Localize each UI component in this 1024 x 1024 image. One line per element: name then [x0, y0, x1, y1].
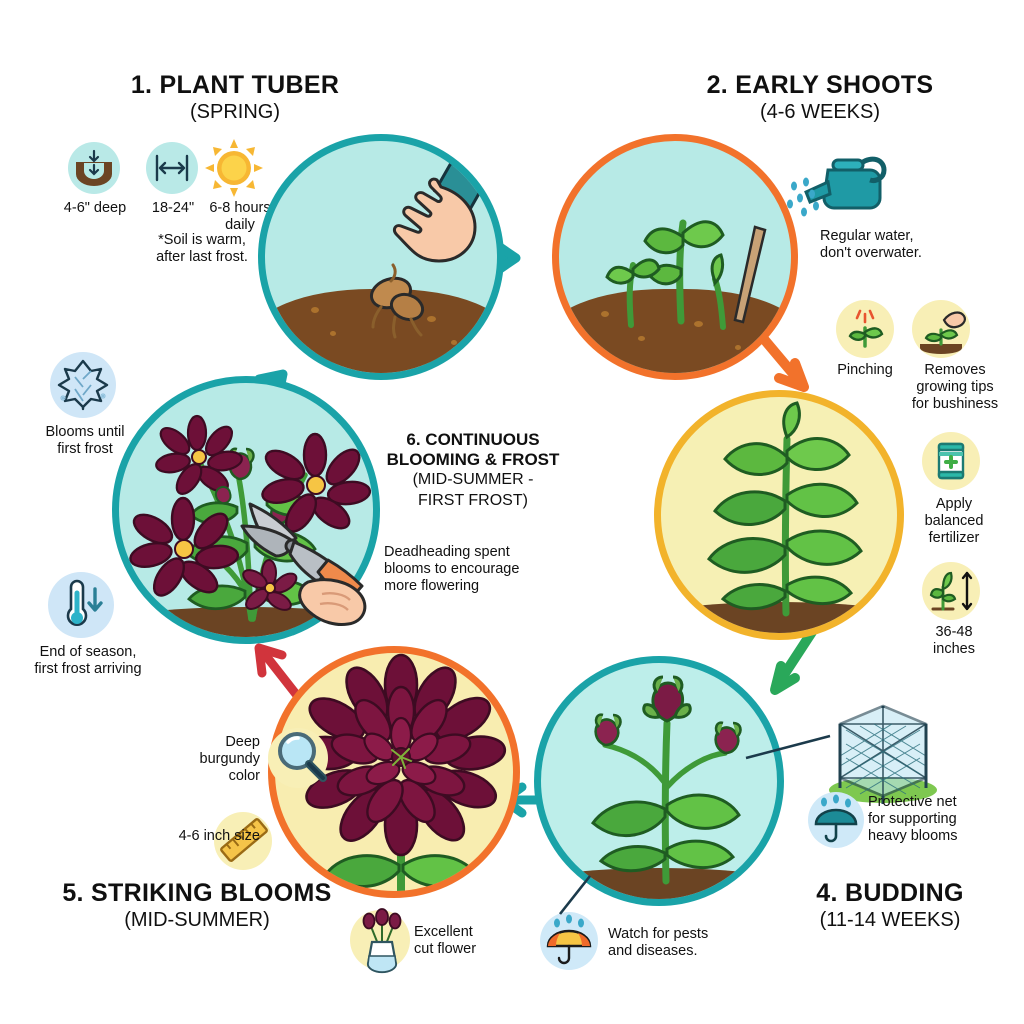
net-line3: heavy blooms	[868, 828, 957, 844]
spacing-arrow-icon	[146, 142, 198, 194]
watering-line2: don't overwater.	[820, 245, 922, 261]
hand-pinching-icon	[912, 300, 970, 358]
step-6-subtitle-line2: FIRST FROST)	[368, 492, 578, 511]
step-2-title: 2. EARLY SHOOTS	[660, 72, 980, 98]
sun-hours-line1: 6-8 hours	[209, 200, 270, 216]
removes-line1: Removes	[924, 362, 985, 378]
plant-height-icon	[922, 562, 980, 620]
flower-vase-icon	[350, 902, 414, 976]
blooms-line1: Blooms until	[46, 424, 125, 440]
cutflower-line2: cut flower	[414, 941, 476, 957]
sun-icon	[204, 138, 264, 198]
pests-line1: Watch for pests	[608, 926, 708, 942]
footnote-line2: after last frost.	[156, 249, 248, 265]
step-1-subtitle: (SPRING)	[85, 101, 385, 124]
blooms-line2: first frost	[57, 441, 113, 457]
bloom-size-label: 4-6 inch size	[110, 828, 260, 845]
infographic-canvas: 1. PLANT TUBER (SPRING) 4-6" deep 18-24"	[0, 0, 1024, 1024]
color-line2: burgundy	[200, 751, 260, 767]
step-3-illustration	[654, 390, 904, 640]
net-line2: for supporting	[868, 811, 957, 827]
fertilizer-bag-icon	[922, 432, 980, 490]
spacing-label: 18-24"	[138, 200, 208, 217]
deadheading-label: Deadheading spent blooms to encourage mo…	[384, 544, 554, 595]
step-5-subtitle: (MID-SUMMER)	[32, 909, 362, 932]
net-line1: Protective net	[868, 794, 957, 810]
magnifier-icon	[270, 726, 334, 790]
removes-line2: growing tips	[916, 379, 993, 395]
endseason-line2: first frost arriving	[34, 661, 141, 677]
removes-line3: for bushiness	[912, 396, 998, 412]
watering-label: Regular water, don't overwater.	[820, 228, 1010, 262]
color-line1: Deep	[225, 734, 260, 750]
planting-depth-icon	[68, 142, 120, 194]
step-6-title-line1: 6. CONTINUOUS	[368, 430, 578, 450]
deadheading-line1: Deadheading spent	[384, 544, 510, 560]
pests-label: Watch for pests and diseases.	[608, 926, 778, 960]
footnote-line1: *Soil is warm,	[158, 232, 246, 248]
step-2-title-block: 2. EARLY SHOOTS (4-6 WEEKS)	[660, 72, 980, 124]
step-6-title-line2: BLOOMING & FROST	[368, 450, 578, 470]
hand-planting-tuber	[265, 141, 504, 380]
pruning-shears-icon	[236, 498, 386, 628]
bushy-dahlia-plant	[661, 397, 904, 640]
planting-depth-label: 4-6" deep	[58, 200, 132, 217]
protective-net-label: Protective net for supporting heavy bloo…	[868, 794, 1018, 845]
fertilizer-line2: balanced	[925, 513, 984, 529]
pests-line2: and diseases.	[608, 943, 697, 959]
endseason-line1: End of season,	[40, 644, 137, 660]
step-2-subtitle: (4-6 WEEKS)	[660, 101, 980, 124]
step-2-illustration	[552, 134, 798, 380]
thermometer-down-icon	[48, 572, 114, 638]
blooms-until-frost-label: Blooms until first frost	[22, 424, 148, 458]
watering-line1: Regular water,	[820, 228, 914, 244]
removes-tips-label: Removes growing tips for bushiness	[894, 362, 1016, 413]
step-4-subtitle: (11-14 WEEKS)	[760, 909, 1020, 932]
end-of-season-label: End of season, first frost arriving	[8, 644, 168, 678]
step-1-title-block: 1. PLANT TUBER (SPRING)	[85, 72, 385, 124]
watering-can-icon	[782, 142, 892, 232]
height-line2: inches	[933, 641, 975, 657]
burgundy-color-label: Deep burgundy color	[124, 734, 260, 785]
fertilizer-line3: fertilizer	[929, 530, 980, 546]
deadheading-line3: more flowering	[384, 578, 479, 594]
step-1-illustration	[258, 134, 504, 380]
deadheading-line2: blooms to encourage	[384, 561, 519, 577]
color-line3: color	[229, 768, 260, 784]
pinching-seedling-icon	[836, 300, 894, 358]
step-4-title: 4. BUDDING	[760, 880, 1020, 906]
pests-leader-line	[556, 872, 616, 922]
height-line1: 36-48	[935, 624, 972, 640]
step-1-title: 1. PLANT TUBER	[85, 72, 385, 98]
step-6-subtitle-line1: (MID-SUMMER -	[368, 471, 578, 490]
fertilizer-line1: Apply	[936, 496, 972, 512]
plant-height-label: 36-48 inches	[914, 624, 994, 658]
net-leader-line	[744, 700, 854, 790]
seedlings-and-stake	[559, 141, 798, 380]
step-4-title-block: 4. BUDDING (11-14 WEEKS)	[760, 880, 1020, 932]
sun-hours-line2: daily	[225, 217, 255, 233]
fertilizer-label: Apply balanced fertilizer	[908, 496, 1000, 547]
umbrella-support-icon	[808, 792, 864, 848]
cutflower-line1: Excellent	[414, 924, 473, 940]
arrow-3-to-4	[775, 632, 812, 690]
frost-leaf-icon	[50, 352, 116, 418]
cut-flower-label: Excellent cut flower	[414, 924, 544, 958]
step-6-title-block: 6. CONTINUOUS BLOOMING & FROST (MID-SUMM…	[368, 430, 578, 511]
